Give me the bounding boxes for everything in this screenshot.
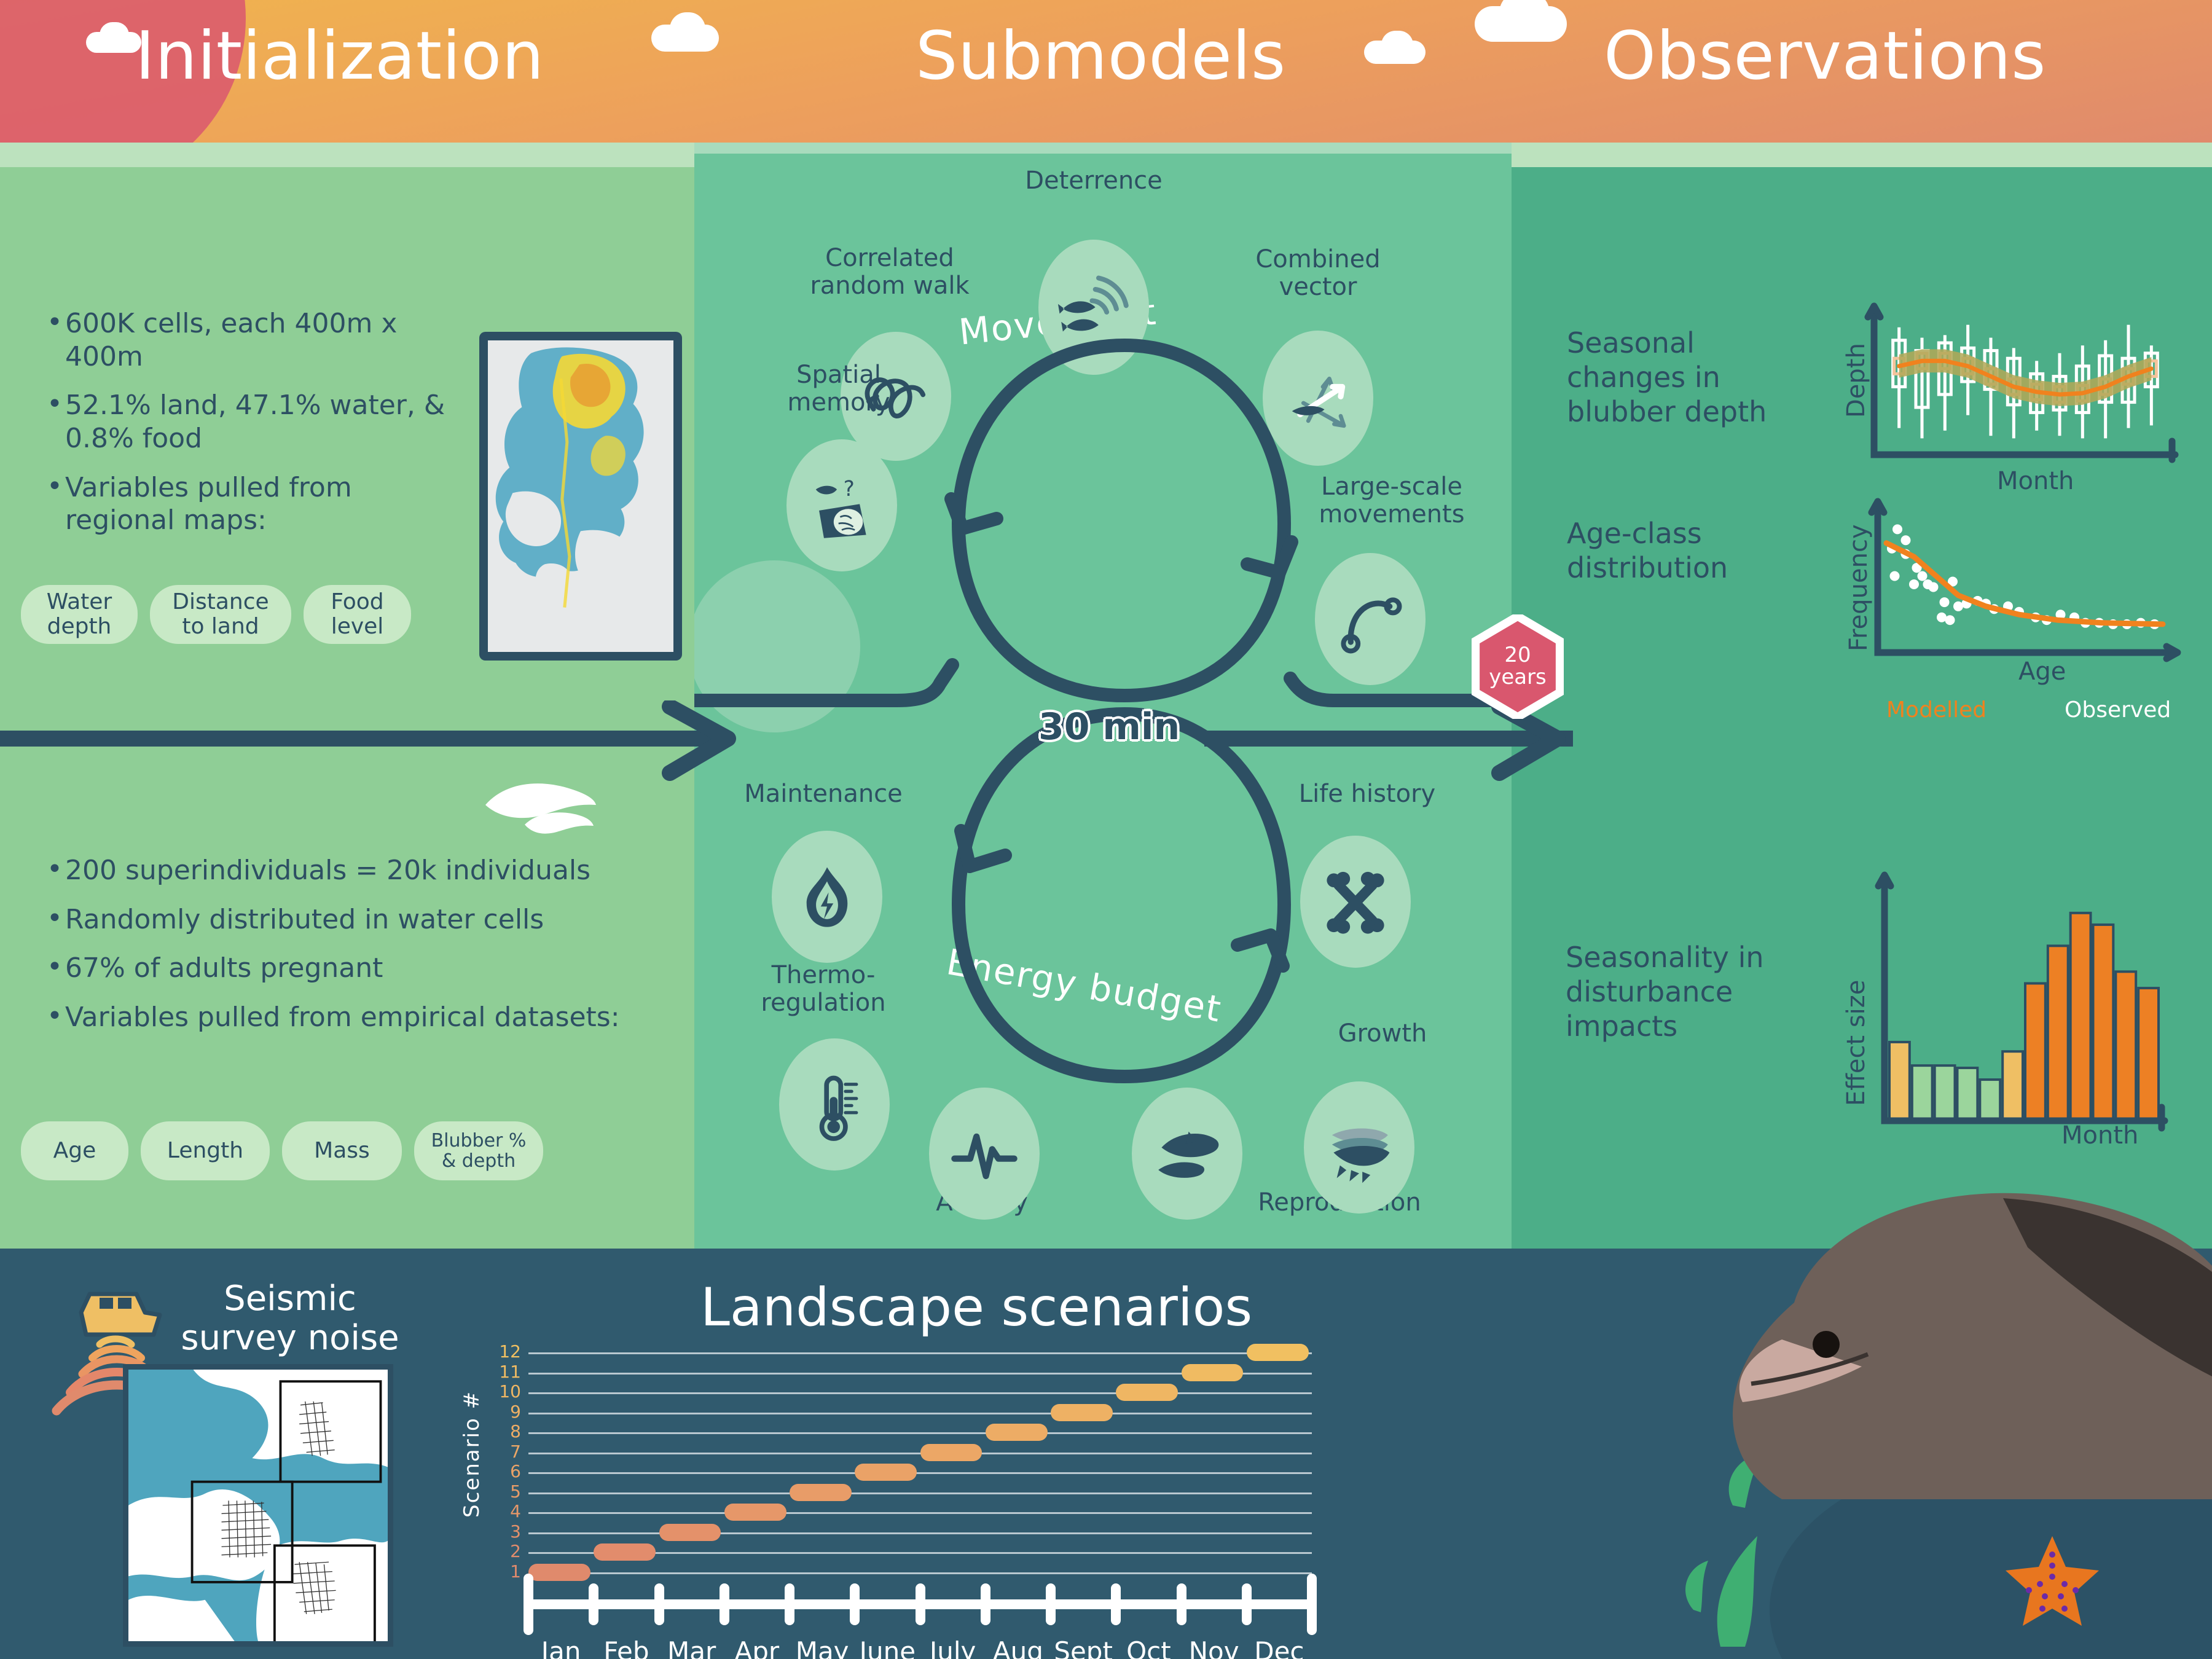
header-title-submodels: Submodels [916,23,1286,90]
porpoise-bullets: 200 superindividuals = 20k individuals R… [44,854,671,1050]
cloud-icon [100,22,129,48]
gantt-month-label: Dec [1236,1636,1322,1659]
seismic-survey-noise-title: Seismic survey noise [161,1279,419,1359]
gantt-axis-tick [785,1583,794,1625]
gantt-row-number: 5 [493,1481,521,1502]
gantt-axis-tick [916,1583,925,1625]
effect-size-bar-chart [1853,860,2197,1143]
header-banner: Initialization Submodels Observations [0,0,2212,143]
gantt-gridline [528,1432,1312,1434]
scatter-xlabel: Age [2018,657,2066,686]
gantt-row-number: 9 [493,1402,521,1422]
pill-water-depth[interactable]: Water depth [21,585,138,644]
submodel-cycle-arrows [694,143,1512,1249]
gantt-row-number: 11 [493,1362,521,1382]
gantt-bar[interactable] [1182,1364,1244,1381]
gantt-axis-tick [1111,1583,1121,1625]
survey-area-map[interactable] [123,1364,393,1647]
gantt-axis-tick [1242,1583,1252,1625]
bar-ylabel: Effect size [1842,980,1870,1106]
gantt-bar[interactable] [659,1524,721,1541]
blubber-depth-boxplot-chart [1856,301,2200,485]
process-flow-arrow [0,700,2212,786]
gantt-bar[interactable] [920,1444,982,1461]
gantt-row-number: 2 [493,1541,521,1561]
pill-age[interactable]: Age [21,1121,128,1180]
gantt-axis-tick [981,1583,990,1625]
gantt-axis-tick [850,1583,860,1625]
gantt-gridline [528,1472,1312,1474]
porpoise-variable-pills: Age Length Mass Blubber % & depth [21,1121,543,1180]
gantt-gridline [528,1392,1312,1394]
header-title-initialization: Initialization [135,23,544,90]
gantt-axis-tick [589,1583,598,1625]
band-decoration-left [0,143,694,167]
evaluation-desc-age-class: Age-class distribution [1567,516,1862,585]
gantt-row-number: 3 [493,1521,521,1542]
list-item: 200 superindividuals = 20k individuals [44,854,671,887]
gantt-gridline [528,1413,1312,1414]
evaluation-desc-blubber: Seasonal changes in blubber depth [1567,326,1874,429]
scenario-outputs-desc: Seasonality in disturbance impacts [1566,940,1861,1043]
gantt-axis-tick [720,1583,729,1625]
duration-badge-value: 20 [1489,645,1547,667]
gantt-axis-tick [1307,1574,1317,1635]
landscape-bullets: 600K cells, each 400m x 400m 52.1% land,… [44,307,450,553]
gantt-bar[interactable] [594,1543,656,1561]
list-item: 67% of adults pregnant [44,952,671,985]
gantt-bar[interactable] [528,1564,590,1581]
gantt-row-number: 7 [493,1441,521,1462]
gantt-row-number: 8 [493,1421,521,1441]
gantt-row-number: 4 [493,1501,521,1521]
cloud-icon [1499,0,1550,34]
gantt-bar[interactable] [986,1424,1048,1441]
pill-food-level[interactable]: Food level [304,585,411,644]
duration-badge-unit: years [1489,667,1547,689]
infographic-root: Initialization Submodels Observations En… [0,0,2212,1659]
list-item: Variables pulled from empirical datasets… [44,1001,671,1034]
landscape-variable-pills: Water depth Distance to land Food level [21,585,411,644]
pill-blubber[interactable]: Blubber % & depth [414,1121,543,1180]
gantt-row-number: 1 [493,1561,521,1582]
list-item: Randomly distributed in water cells [44,903,671,936]
gantt-gridline [528,1532,1312,1534]
gantt-bar[interactable] [1116,1384,1178,1401]
gantt-axis-tick [524,1574,533,1635]
pill-distance-to-land[interactable]: Distance to land [150,585,291,644]
gantt-gridline [528,1352,1312,1354]
gantt-axis-tick [654,1583,664,1625]
cloud-icon [1381,31,1413,59]
boxplot-xlabel: Month [1997,467,2074,495]
landscape-scenarios-gantt: 123456789101112JanFebMarAprMayJuneJulyAu… [485,1336,1395,1650]
gantt-bar[interactable] [1247,1344,1309,1361]
bathymetry-map-thumbnail[interactable] [479,332,682,661]
gantt-gridline [528,1512,1312,1514]
scatter-ylabel: Frequency [1845,524,1873,651]
duration-badge-20-years: 20 years [1472,614,1564,719]
gantt-gridline [528,1492,1312,1494]
gantt-row-number: 6 [493,1461,521,1481]
boxplot-ylabel: Depth [1842,343,1870,418]
gantt-row-number: 10 [493,1381,521,1402]
header-title-observations: Observations [1604,23,2046,90]
gantt-bar[interactable] [855,1464,917,1481]
pill-mass[interactable]: Mass [282,1121,402,1180]
gantt-bar[interactable] [724,1504,786,1521]
gantt-gridline [528,1572,1312,1574]
age-class-scatter-chart [1856,498,2200,682]
list-item: Variables pulled from regional maps: [44,471,450,537]
gantt-axis-tick [1046,1583,1056,1625]
list-item: 52.1% land, 47.1% water, & 0.8% food [44,389,450,455]
list-item: 600K cells, each 400m x 400m [44,307,450,373]
gantt-row-number: 12 [493,1341,521,1362]
gantt-bar[interactable] [790,1484,852,1501]
gantt-bar[interactable] [1051,1404,1113,1421]
cloud-icon [670,12,705,45]
gantt-axis-tick [1177,1583,1186,1625]
gantt-ylabel: Scenario # [460,1390,484,1518]
landscape-scenarios-title: Landscape scenarios [700,1277,1252,1338]
band-decoration-right [1512,143,2212,167]
porpoise-illustration [1598,1118,2212,1548]
pill-length[interactable]: Length [141,1121,270,1180]
